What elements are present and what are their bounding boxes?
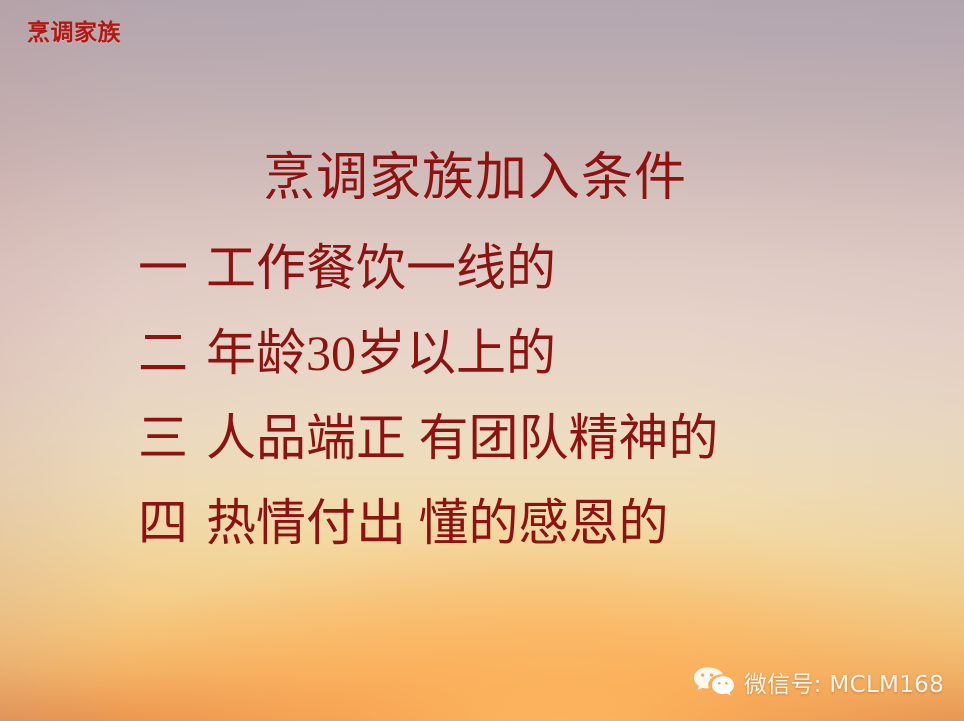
list-item-number: 一	[138, 240, 188, 296]
page-title: 烹调家族加入条件	[0, 152, 964, 207]
list-item-number: 二	[138, 325, 188, 381]
list-item-number: 三	[138, 410, 188, 466]
condition-list: 一工作餐饮一线的 二年龄30岁以上的 三人品端正 有团队精神的 四热情付出 懂的…	[138, 243, 938, 583]
list-item-label: 热情付出 懂的感恩的	[206, 495, 669, 551]
list-item: 一工作餐饮一线的	[138, 243, 938, 328]
list-item: 二年龄30岁以上的	[138, 328, 938, 413]
wechat-icon	[693, 666, 735, 698]
list-item-label: 工作餐饮一线的	[206, 240, 556, 296]
list-item-label: 年龄30岁以上的	[206, 325, 556, 381]
list-item-number: 四	[138, 495, 188, 551]
slide-canvas: 烹调家族 烹调家族加入条件 一工作餐饮一线的 二年龄30岁以上的 三人品端正 有…	[0, 0, 964, 721]
wechat-id-label: 微信号: MCLM168	[744, 665, 944, 699]
list-item: 四热情付出 懂的感恩的	[138, 498, 938, 583]
brand-logo: 烹调家族	[27, 22, 121, 45]
wechat-footer: 微信号: MCLM168	[693, 665, 944, 699]
list-item: 三人品端正 有团队精神的	[138, 413, 938, 498]
list-item-label: 人品端正 有团队精神的	[206, 410, 719, 466]
